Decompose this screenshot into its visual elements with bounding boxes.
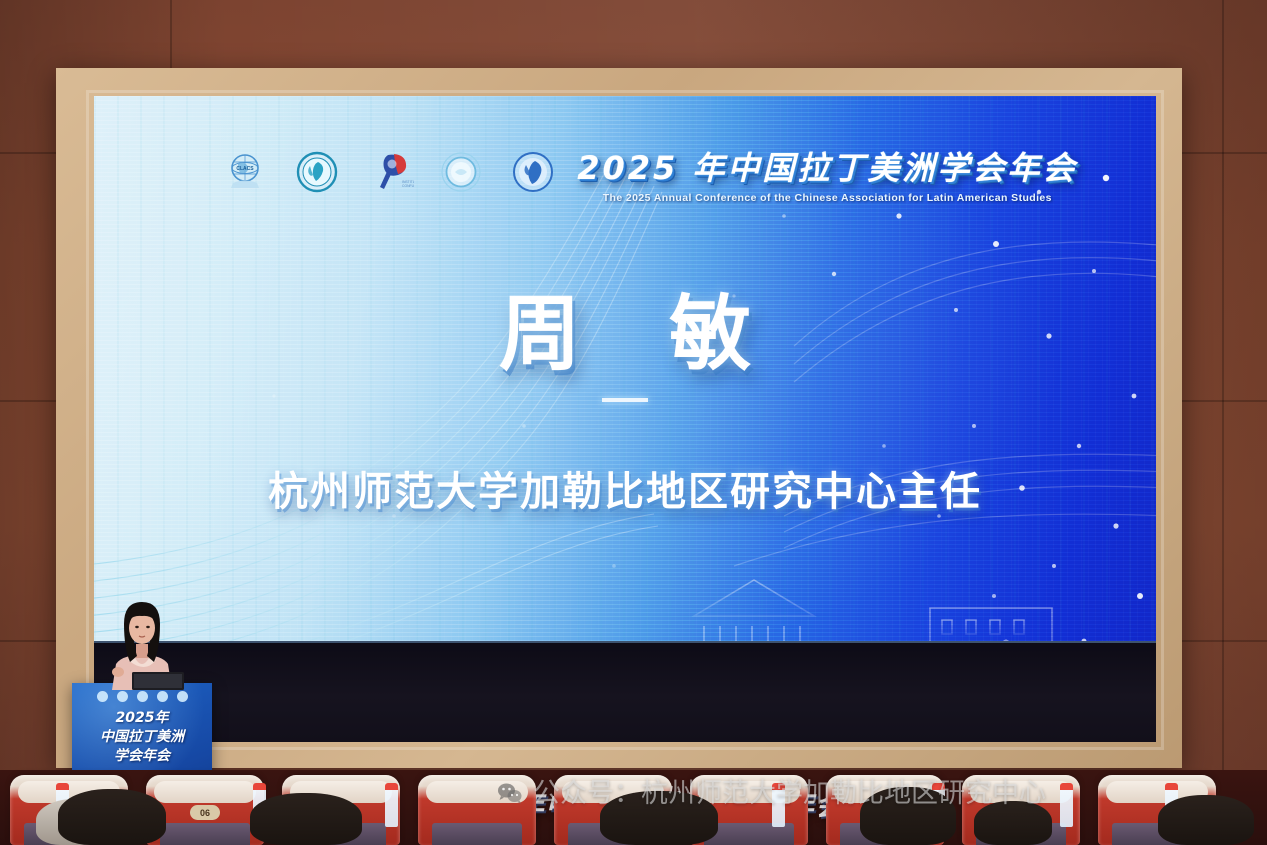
podium-logo-5: [177, 691, 188, 702]
podium-banner-text: 2025年 中国拉丁美洲 学会年会: [72, 709, 212, 766]
conference-title-en: The 2025 Annual Conference of the Chines…: [577, 192, 1077, 204]
podium-logo-3: [137, 691, 148, 702]
podium-line-2: 中国拉丁美洲: [72, 728, 212, 747]
conference-photo-scene: CLACS: [0, 0, 1267, 845]
svg-text:CLACS: CLACS: [236, 166, 254, 172]
podium-logo-row: [72, 691, 212, 702]
organization-logo-row: CLACS: [224, 151, 554, 193]
latin-america-circle-logo: [296, 151, 338, 193]
audience-head: [1158, 795, 1254, 845]
speaker-title: 杭州师范大学加勒比地区研究中心主任: [94, 459, 1156, 517]
svg-text:CONFUCIO: CONFUCIO: [402, 184, 414, 188]
podium-logo-2: [117, 691, 128, 702]
podium-logo-4: [157, 691, 168, 702]
ring-emblem-logo: [440, 151, 482, 193]
podium-logo-1: [97, 691, 108, 702]
water-bottle: [1060, 783, 1073, 827]
water-bottle: [385, 783, 398, 827]
watermark: 公众号：杭州师范大学加勒比地区研究中心: [497, 771, 1046, 810]
speaker-at-podium: [96, 598, 188, 690]
red-blue-torch-logo: INSTITUTO CONFUCIO: [368, 151, 410, 193]
audience-head: [58, 789, 166, 845]
led-screen-frame: CLACS: [56, 68, 1182, 768]
podium-line-1: 2025年: [72, 709, 212, 728]
name-divider: [602, 398, 648, 402]
clacs-globe-logo: CLACS: [224, 151, 266, 193]
seat-number: 06: [190, 805, 220, 820]
conference-title-cn: 2025 年中国拉丁美洲学会年会: [577, 143, 1077, 189]
conference-header: 2025 年中国拉丁美洲学会年会 The 2025 Annual Confere…: [577, 143, 1077, 204]
wechat-icon: [497, 780, 523, 802]
blue-globe-logo: [512, 151, 554, 193]
audience-head: [250, 793, 362, 845]
screen-dark-band: [94, 641, 1156, 742]
watermark-text: 公众号：杭州师范大学加勒比地区研究中心: [533, 771, 1046, 810]
led-screen: CLACS: [94, 96, 1156, 742]
speaker-name: 周 敏: [94, 267, 1156, 386]
